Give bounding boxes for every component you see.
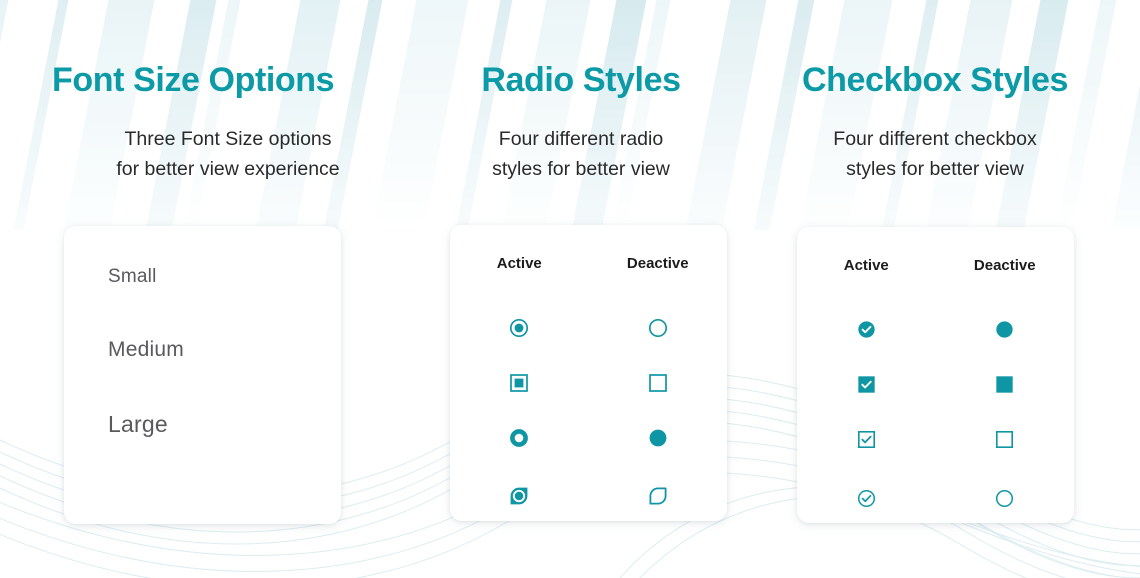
checkbox-styles-table: Active Deactive bbox=[797, 227, 1074, 532]
radio-donut-icon[interactable] bbox=[509, 428, 529, 448]
panel-radio-styles: Radio Styles Four different radio styles… bbox=[420, 0, 760, 578]
check-circle-outline-icon[interactable] bbox=[857, 489, 876, 508]
radio-cell-active-4[interactable] bbox=[450, 468, 589, 530]
column-header-deactive: Deactive bbox=[936, 227, 1075, 305]
table-row bbox=[450, 303, 727, 358]
panel-subtitle-checkbox-styles: Four different checkbox styles for bette… bbox=[770, 125, 1100, 184]
subtitle-line: for better view experience bbox=[68, 155, 388, 185]
font-size-option-small[interactable]: Small bbox=[108, 266, 341, 288]
radio-styles-table: Active Deactive bbox=[450, 225, 727, 530]
panel-subtitle-radio-styles: Four different radio styles for better v… bbox=[436, 125, 726, 184]
radio-square-filled-inner-icon[interactable] bbox=[509, 373, 529, 393]
page-title-radio-styles: Radio Styles bbox=[436, 62, 726, 99]
subtitle-line: styles for better view bbox=[770, 155, 1100, 185]
square-filled-icon[interactable] bbox=[995, 375, 1014, 394]
card-checkbox-styles: Active Deactive bbox=[797, 227, 1074, 523]
circle-filled-icon[interactable] bbox=[995, 320, 1014, 339]
table-header-row: Active Deactive bbox=[797, 227, 1074, 305]
page-root: Font Size Options Three Font Size option… bbox=[0, 0, 1140, 578]
card-radio-styles: Active Deactive bbox=[450, 225, 727, 521]
radio-circle-filled-icon[interactable] bbox=[648, 428, 668, 448]
checkbox-cell-active-4[interactable] bbox=[797, 470, 936, 532]
table-row bbox=[450, 413, 727, 468]
checkbox-cell-active-2[interactable] bbox=[797, 360, 936, 415]
checkbox-cell-deactive-2[interactable] bbox=[936, 360, 1075, 415]
panel-font-size: Font Size Options Three Font Size option… bbox=[0, 0, 420, 578]
check-circle-filled-icon[interactable] bbox=[857, 320, 876, 339]
square-outline-icon[interactable] bbox=[995, 430, 1014, 449]
subtitle-line: Three Font Size options bbox=[68, 125, 388, 155]
subtitle-line: Four different radio bbox=[436, 125, 726, 155]
subtitle-line: Four different checkbox bbox=[770, 125, 1100, 155]
checkbox-cell-deactive-4[interactable] bbox=[936, 470, 1075, 532]
check-square-filled-icon[interactable] bbox=[857, 375, 876, 394]
radio-circle-dot-icon[interactable] bbox=[509, 318, 529, 338]
column-header-active: Active bbox=[797, 227, 936, 305]
font-size-option-medium[interactable]: Medium bbox=[108, 338, 341, 362]
radio-cell-active-1[interactable] bbox=[450, 303, 589, 358]
checkbox-cell-deactive-1[interactable] bbox=[936, 305, 1075, 360]
panel-checkbox-styles: Checkbox Styles Four different checkbox … bbox=[760, 0, 1140, 578]
table-row bbox=[797, 360, 1074, 415]
subtitle-line: styles for better view bbox=[436, 155, 726, 185]
column-header-deactive: Deactive bbox=[589, 225, 728, 303]
radio-slashed-circle-filled-icon[interactable] bbox=[508, 485, 530, 507]
check-square-outline-icon[interactable] bbox=[857, 430, 876, 449]
checkbox-cell-active-3[interactable] bbox=[797, 415, 936, 470]
radio-cell-deactive-1[interactable] bbox=[589, 303, 728, 358]
radio-square-outline-icon[interactable] bbox=[648, 373, 668, 393]
column-header-active: Active bbox=[450, 225, 589, 303]
radio-slashed-circle-outline-icon[interactable] bbox=[647, 485, 669, 507]
font-size-option-large[interactable]: Large bbox=[108, 411, 341, 438]
panel-subtitle-font-size: Three Font Size options for better view … bbox=[68, 125, 388, 184]
circle-outline-icon[interactable] bbox=[995, 489, 1014, 508]
page-title-font-size: Font Size Options bbox=[52, 62, 420, 99]
radio-cell-deactive-2[interactable] bbox=[589, 358, 728, 413]
table-row bbox=[797, 305, 1074, 360]
page-title-checkbox-styles: Checkbox Styles bbox=[770, 62, 1100, 99]
table-header-row: Active Deactive bbox=[450, 225, 727, 303]
table-row bbox=[797, 470, 1074, 532]
table-row bbox=[450, 468, 727, 530]
radio-cell-active-3[interactable] bbox=[450, 413, 589, 468]
radio-circle-outline-icon[interactable] bbox=[648, 318, 668, 338]
table-row bbox=[797, 415, 1074, 470]
radio-cell-active-2[interactable] bbox=[450, 358, 589, 413]
radio-cell-deactive-3[interactable] bbox=[589, 413, 728, 468]
checkbox-cell-active-1[interactable] bbox=[797, 305, 936, 360]
card-font-size-options: Small Medium Large bbox=[64, 226, 341, 524]
table-row bbox=[450, 358, 727, 413]
radio-cell-deactive-4[interactable] bbox=[589, 468, 728, 530]
checkbox-cell-deactive-3[interactable] bbox=[936, 415, 1075, 470]
